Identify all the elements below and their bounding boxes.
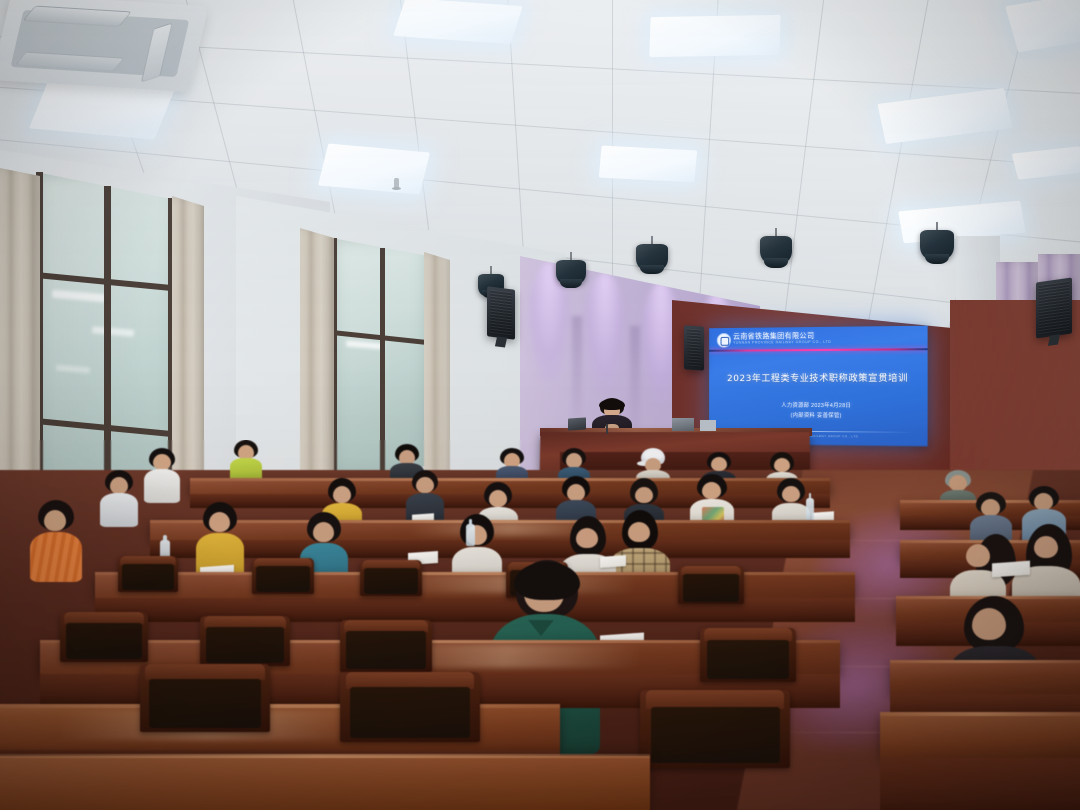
desk-row-foreground-right — [880, 712, 1080, 758]
ceiling-led-panel — [877, 88, 1012, 144]
auditorium-seat-foreground — [340, 672, 480, 742]
ceiling-led-panel — [393, 0, 523, 44]
wall-speaker-left — [487, 286, 515, 339]
table-monitor — [672, 418, 694, 431]
auditorium-seat — [252, 558, 314, 594]
microphone-icon — [606, 424, 608, 434]
auditorium-seat — [60, 612, 148, 662]
auditorium-seat-foreground — [640, 690, 790, 768]
ceiling-ac-cassette-icon — [0, 0, 209, 92]
slide-title: 2023年工程类专业技术职称政策宣贯培训 — [709, 370, 927, 384]
ceiling-led-panel — [1012, 146, 1080, 179]
auditorium-seat — [118, 556, 178, 592]
wall-speaker-right — [1036, 277, 1072, 338]
ceiling-led-panel — [599, 145, 697, 182]
training-room-photograph: 云南省铁路集团有限公司 YUNNAN PROVINCE RAILWAY GROU… — [0, 0, 1080, 810]
audience-person-orange-striped — [30, 500, 82, 580]
fire-sprinkler-icon — [394, 178, 399, 189]
slide-department: 人力资源部 2023年4月28日 — [709, 401, 927, 410]
handout-paper — [992, 561, 1030, 578]
auditorium-seat — [700, 628, 796, 682]
audience-person — [100, 470, 138, 526]
ceiling-led-panel — [649, 15, 780, 57]
front-desk-edge — [0, 754, 650, 758]
stage-par-light-icon — [556, 252, 586, 286]
auditorium-seat — [340, 620, 432, 672]
company-logo-icon — [717, 333, 731, 348]
slide-confidential-note: (内部资料 妥善保管) — [709, 410, 927, 419]
auditorium-seat — [200, 616, 290, 666]
presenter-laptop — [568, 417, 586, 430]
stage-par-light-icon — [760, 228, 792, 266]
auditorium-seat-foreground — [140, 664, 270, 732]
ceiling-led-panel — [318, 143, 430, 194]
wall-speaker-stage — [684, 325, 704, 370]
screen-accent-rule — [709, 348, 927, 352]
screen-org-name-sub: YUNNAN PROVINCE RAILWAY GROUP CO., LTD — [733, 340, 831, 345]
orange-striped-top — [30, 532, 82, 582]
desk-row-right — [890, 660, 1080, 694]
stage-par-light-icon — [920, 222, 954, 262]
front-desk-slab — [0, 756, 650, 810]
curtain-left-3 — [300, 228, 334, 490]
audience-person — [230, 440, 262, 482]
stage-par-light-icon — [636, 236, 668, 272]
ceiling-led-panel — [1005, 0, 1080, 52]
auditorium-seat — [360, 560, 422, 596]
audience-person — [144, 448, 180, 502]
notebook — [600, 555, 626, 568]
water-bottle — [466, 524, 475, 546]
table-equipment — [700, 420, 716, 431]
auditorium-seat — [678, 566, 744, 604]
curtain-left-4 — [424, 252, 450, 482]
water-bottle — [806, 498, 814, 520]
